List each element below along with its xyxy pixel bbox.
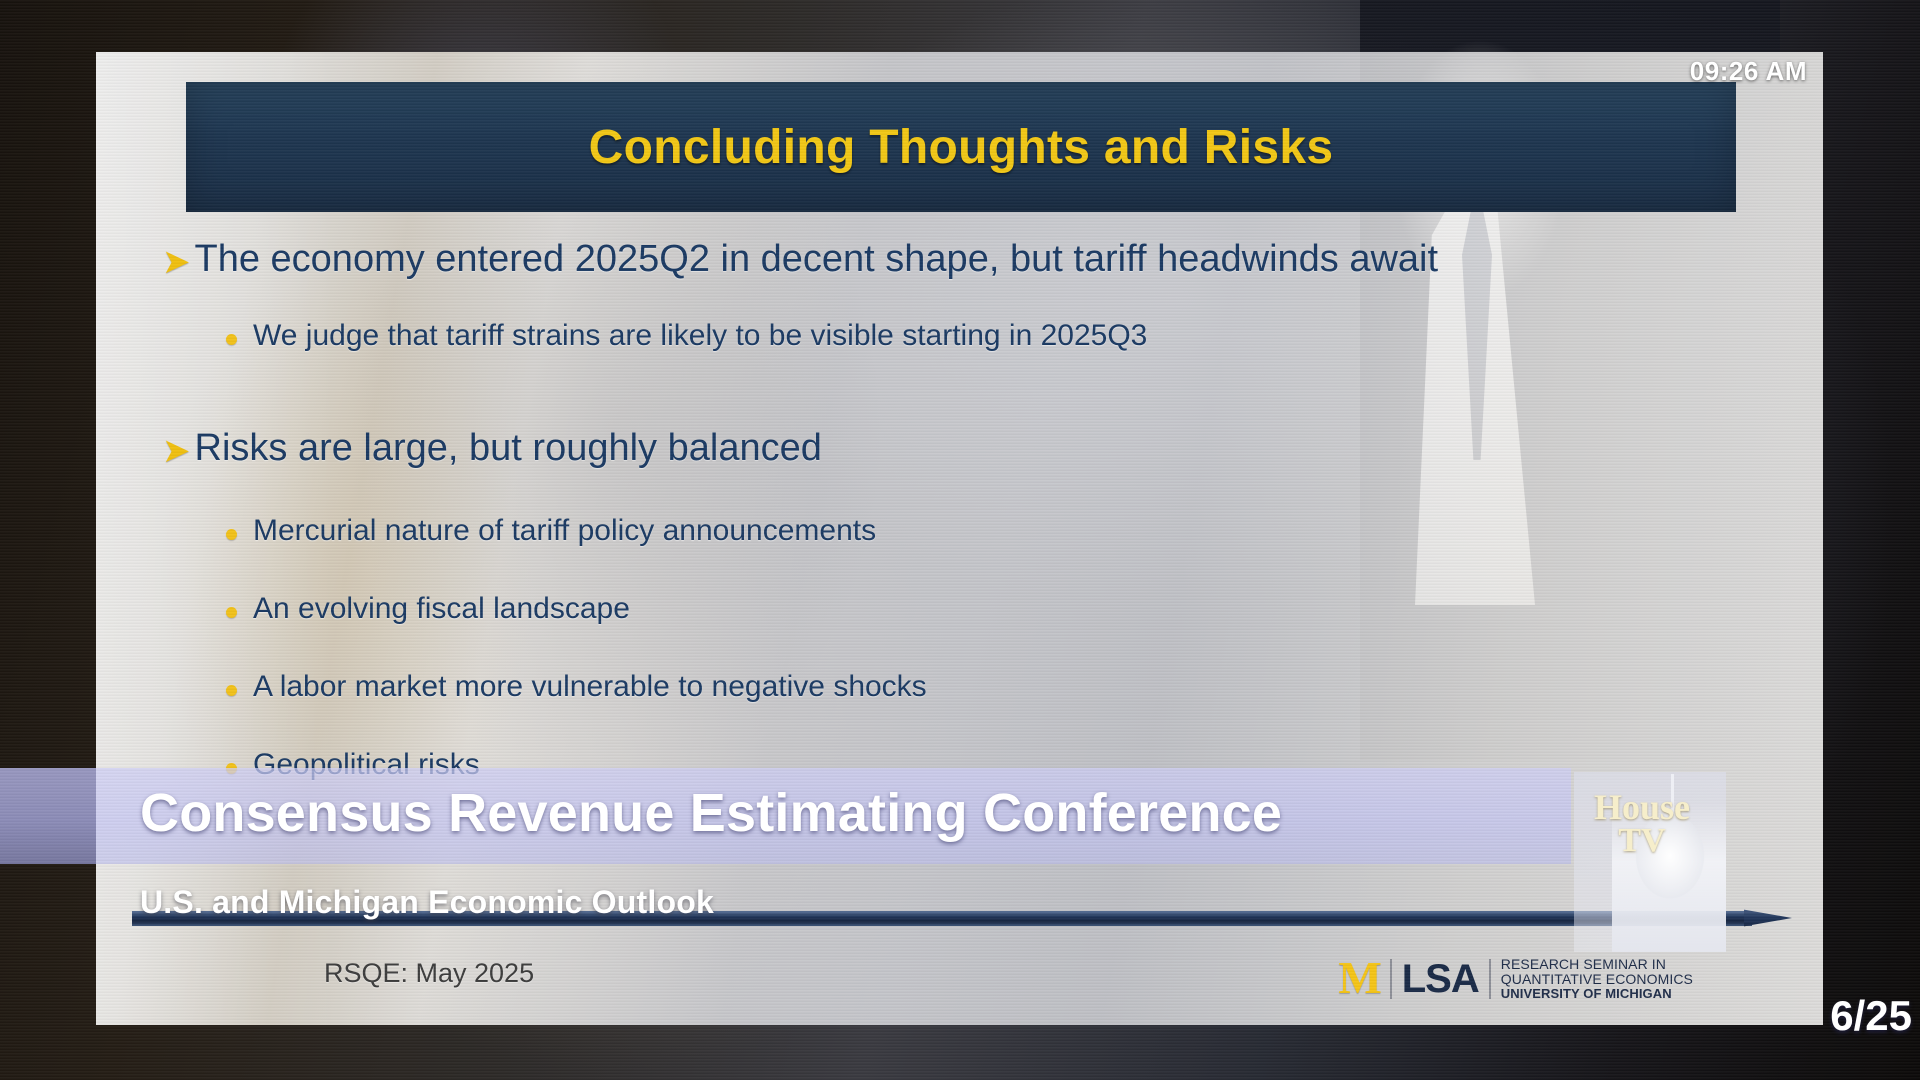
bullet-level1: ➤ The economy entered 2025Q2 in decent s… — [162, 237, 1823, 282]
lsa-wordmark: LSA — [1402, 962, 1479, 996]
bullet-level2: A labor market more vulnerable to negati… — [226, 669, 1823, 705]
dot-bullet-icon — [226, 607, 237, 618]
bullet-text: Mercurial nature of tariff policy announ… — [253, 513, 876, 549]
house-tv-line-1: House — [1582, 790, 1702, 824]
dot-bullet-icon — [226, 685, 237, 696]
house-tv-wordmark: House TV — [1582, 790, 1702, 858]
bullet-text: An evolving fiscal landscape — [253, 591, 630, 627]
bullet-level1: ➤ Risks are large, but roughly balanced — [162, 426, 1823, 471]
arrow-bullet-icon: ➤ — [162, 245, 191, 279]
logo-line-3: UNIVERSITY OF MICHIGAN — [1501, 987, 1693, 1001]
logo-line-1: RESEARCH SEMINAR IN — [1501, 957, 1693, 972]
slide-counter: 6/25 — [1830, 992, 1912, 1040]
rsqe-wordmark-lines: RESEARCH SEMINAR IN QUANTITATIVE ECONOMI… — [1501, 957, 1693, 1001]
michigan-m-icon: M — [1338, 960, 1379, 997]
broadcast-video-frame: 09:26 AM Concluding Thoughts and Risks ➤… — [0, 0, 1920, 1080]
broadcast-clock: 09:26 AM — [1690, 56, 1807, 87]
spacer — [96, 384, 1823, 412]
bullet-text: A labor market more vulnerable to negati… — [253, 669, 927, 705]
slide-title: Concluding Thoughts and Risks — [589, 120, 1334, 175]
arrow-bullet-icon: ➤ — [162, 434, 191, 468]
logo-divider — [1390, 959, 1392, 999]
slide-body: ➤ The economy entered 2025Q2 in decent s… — [96, 237, 1823, 813]
bullet-level2: We judge that tariff strains are likely … — [226, 318, 1823, 354]
dot-bullet-icon — [226, 334, 237, 345]
lower-third-title: Consensus Revenue Estimating Conference — [140, 782, 1282, 844]
lower-third-subtitle: U.S. and Michigan Economic Outlook — [140, 884, 714, 921]
presentation-slide: 09:26 AM Concluding Thoughts and Risks ➤… — [96, 52, 1823, 1025]
bullet-level2: Mercurial nature of tariff policy announ… — [226, 513, 1823, 549]
bullet-text: We judge that tariff strains are likely … — [253, 318, 1147, 354]
dot-bullet-icon — [226, 529, 237, 540]
logo-line-2: QUANTITATIVE ECONOMICS — [1501, 972, 1693, 987]
bullet-text: The economy entered 2025Q2 in decent sha… — [195, 237, 1439, 282]
logo-divider — [1489, 959, 1491, 999]
slide-footer-date: RSQE: May 2025 — [324, 958, 534, 989]
bullet-text: Risks are large, but roughly balanced — [195, 426, 822, 471]
slide-title-bar: Concluding Thoughts and Risks — [186, 82, 1736, 212]
umich-lsa-rsqe-logo: M LSA RESEARCH SEMINAR IN QUANTITATIVE E… — [1338, 957, 1693, 1001]
bullet-level2: An evolving fiscal landscape — [226, 591, 1823, 627]
house-tv-station-bug: House TV — [1574, 772, 1726, 952]
house-tv-line-2: TV — [1582, 824, 1702, 858]
